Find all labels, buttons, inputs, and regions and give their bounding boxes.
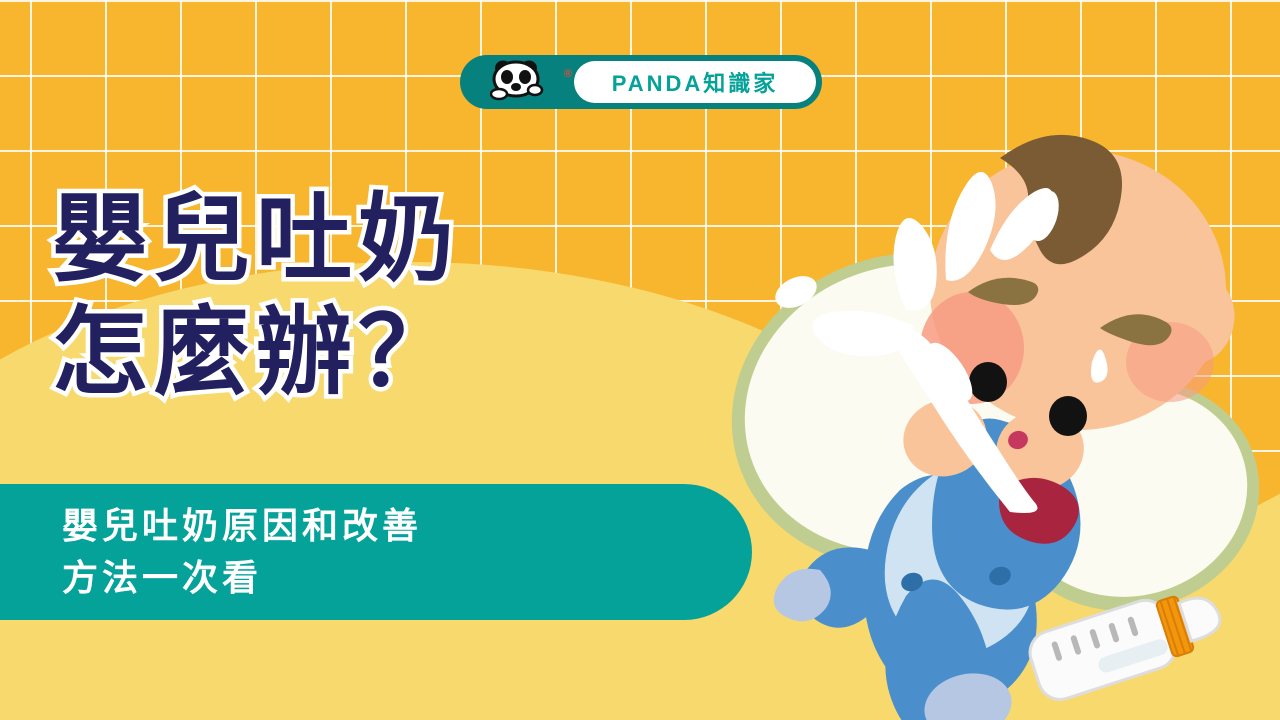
brand-badge[interactable]: ® PANDA知識家 (460, 55, 822, 109)
baby-eye-right (1049, 396, 1087, 436)
page-title: 嬰兒吐奶 怎麼辦？ (52, 183, 672, 410)
brand-name-pill[interactable]: PANDA知識家 (574, 61, 816, 103)
subtitle-banner: 嬰兒吐奶原因和改善 方法一次看 (0, 484, 752, 620)
brand-name-label: PANDA知識家 (612, 66, 779, 98)
brand-logo: ® (466, 59, 574, 105)
title-line-2: 怎麼辦？ (52, 296, 672, 409)
subtitle-line-2: 方法一次看 (62, 552, 752, 604)
registered-trademark-symbol: ® (564, 69, 572, 80)
poster-canvas: ® PANDA知識家 嬰兒吐奶 怎麼辦？ 嬰兒吐奶原因和改善 方法一次看 (0, 0, 1280, 720)
baby-eye-left (969, 362, 1007, 402)
title-line-1: 嬰兒吐奶 (52, 183, 672, 296)
panda-logo-icon (490, 60, 550, 104)
baby-spitting-up-milk-illustration (700, 120, 1280, 720)
subtitle-line-1: 嬰兒吐奶原因和改善 (62, 500, 752, 552)
